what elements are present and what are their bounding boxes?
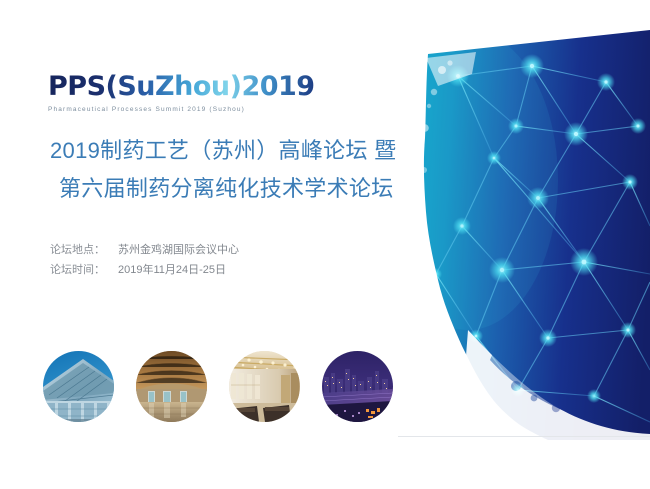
venue-photo-strip — [43, 351, 393, 422]
event-details: 论坛地点： 苏州金鸡湖国际会议中心 论坛时间： 2019年11月24日-25日 — [50, 240, 380, 280]
title-line-2: 第六届制药分离纯化技术学术论坛 — [50, 170, 390, 208]
venue-value: 苏州金鸡湖国际会议中心 — [118, 240, 239, 260]
title-line-1: 2019制药工艺（苏州）高峰论坛 暨 — [50, 132, 390, 170]
photo-ornate-ballroom-corridor — [229, 351, 300, 422]
date-label: 论坛时间： — [50, 260, 118, 280]
detail-row-date: 论坛时间： 2019年11月24日-25日 — [50, 260, 380, 280]
event-logo: PPS(SuZhou)2019 Pharmaceutical Processes… — [48, 72, 378, 113]
page-title: 2019制药工艺（苏州）高峰论坛 暨 第六届制药分离纯化技术学术论坛 — [50, 132, 390, 208]
conference-poster: PPS(SuZhou)2019 Pharmaceutical Processes… — [0, 0, 650, 489]
photo-wood-ceiling-lobby — [136, 351, 207, 422]
logo-wordmark: PPS(SuZhou)2019 — [48, 72, 378, 102]
date-value: 2019年11月24日-25日 — [118, 260, 226, 280]
venue-label: 论坛地点： — [50, 240, 118, 260]
photo-glass-building-exterior — [43, 351, 114, 422]
logo-subtitle: Pharmaceutical Processes Summit 2019 (Su… — [48, 106, 378, 113]
photo-night-cityscape — [322, 351, 393, 422]
network-globe-graphic — [398, 30, 650, 440]
detail-row-venue: 论坛地点： 苏州金鸡湖国际会议中心 — [50, 240, 380, 260]
graphic-baseline-rule — [398, 436, 650, 437]
